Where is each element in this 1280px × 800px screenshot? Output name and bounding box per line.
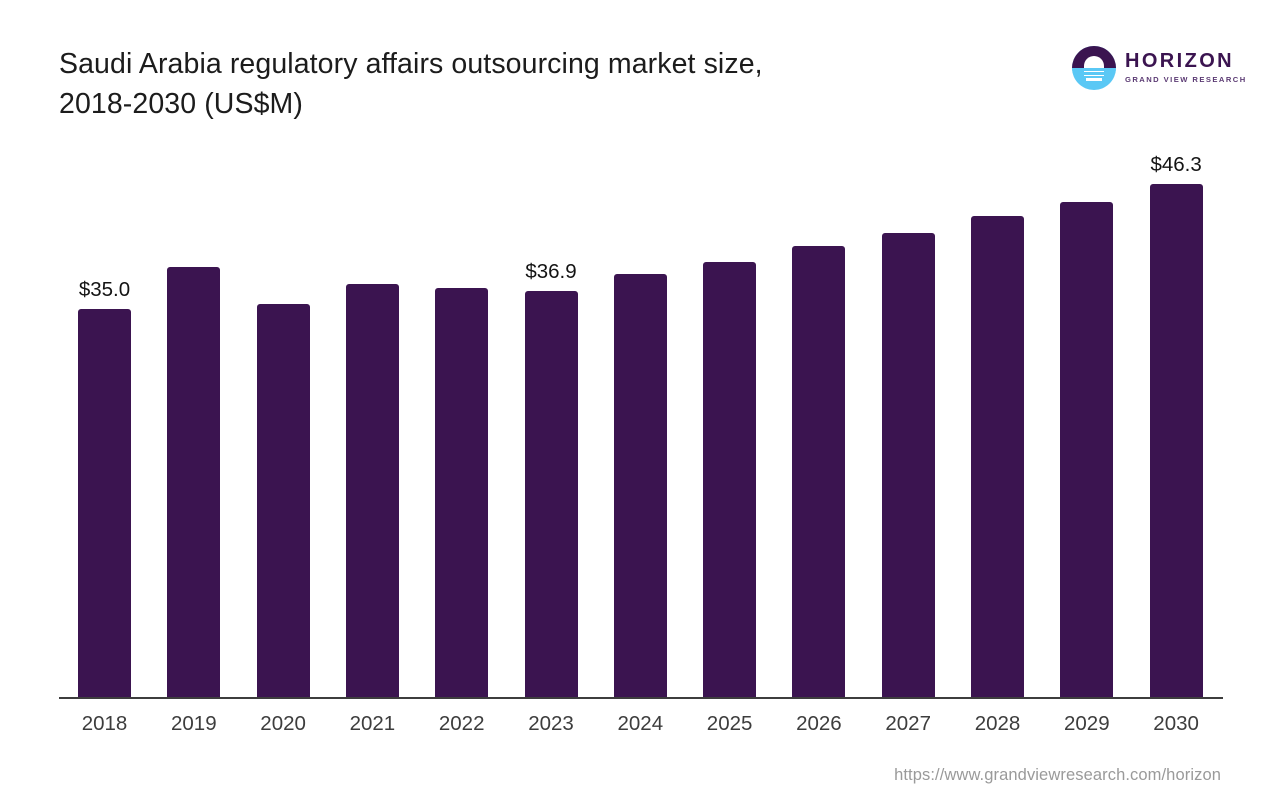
x-tick-2022: 2022 (439, 712, 485, 736)
x-tick-2030: 2030 (1153, 712, 1199, 736)
x-tick-2020: 2020 (260, 712, 306, 736)
value-label-2018: $35.0 (79, 278, 130, 302)
bar-2020[interactable] (257, 304, 310, 697)
x-tick-2024: 2024 (617, 712, 663, 736)
bar-2019[interactable] (167, 267, 220, 697)
bar-2027[interactable] (882, 233, 935, 697)
x-tick-2025: 2025 (707, 712, 753, 736)
bar-2026[interactable] (792, 246, 845, 697)
x-tick-2021: 2021 (350, 712, 396, 736)
source-url[interactable]: https://www.grandviewresearch.com/horizo… (894, 766, 1221, 785)
x-tick-2027: 2027 (885, 712, 931, 736)
bar-2030[interactable] (1150, 184, 1203, 697)
x-tick-2018: 2018 (82, 712, 128, 736)
bar-2024[interactable] (614, 274, 667, 697)
bar-chart: $35.0$36.9$46.3 201820192020202120222023… (0, 0, 1280, 800)
bar-2022[interactable] (435, 288, 488, 697)
x-tick-2026: 2026 (796, 712, 842, 736)
bar-2029[interactable] (1060, 202, 1113, 697)
bar-2018[interactable] (78, 309, 131, 697)
bar-2028[interactable] (971, 216, 1024, 697)
x-tick-2028: 2028 (975, 712, 1021, 736)
bar-2021[interactable] (346, 284, 399, 697)
value-label-2030: $46.3 (1150, 153, 1201, 177)
bar-2023[interactable] (525, 291, 578, 697)
x-axis-line (59, 697, 1223, 699)
x-tick-2029: 2029 (1064, 712, 1110, 736)
x-tick-2019: 2019 (171, 712, 217, 736)
x-tick-2023: 2023 (528, 712, 574, 736)
chart-page: Saudi Arabia regulatory affairs outsourc… (0, 0, 1280, 800)
value-label-2023: $36.9 (525, 260, 576, 284)
bar-2025[interactable] (703, 262, 756, 697)
